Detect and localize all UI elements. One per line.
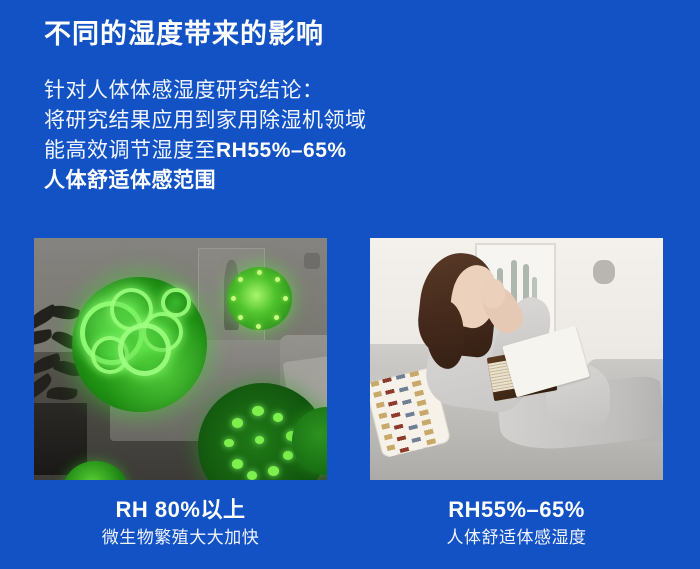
caption-left-subtitle: 微生物繁殖大大加快 xyxy=(34,525,327,551)
body-line-2: 将研究结果应用到家用除湿机领域 xyxy=(44,106,367,136)
bacteria-sphere-top xyxy=(227,267,291,330)
bacteria-sphere-large xyxy=(72,277,207,413)
dim-room-scene xyxy=(34,238,327,480)
humidity-infographic-poster: 不同的湿度带来的影响 针对人体体感湿度研究结论： 将研究结果应用到家用除湿机领域… xyxy=(0,0,700,569)
wall-knob xyxy=(304,253,320,269)
photo-comfort-humidity xyxy=(370,238,663,480)
body-line-1: 针对人体体感湿度研究结论： xyxy=(44,76,367,106)
caption-comfort-humidity: RH55%–65% 人体舒适体感湿度 xyxy=(370,495,663,551)
page-title: 不同的湿度带来的影响 xyxy=(44,16,324,52)
spikes xyxy=(227,267,291,330)
body-copy: 针对人体体感湿度研究结论： 将研究结果应用到家用除湿机领域 能高效调节湿度至RH… xyxy=(44,76,367,196)
caption-left-title: RH 80%以上 xyxy=(34,495,327,525)
bright-room-scene xyxy=(370,238,663,480)
wall-knob xyxy=(593,260,615,284)
caption-high-humidity: RH 80%以上 微生物繁殖大大加快 xyxy=(34,495,327,551)
body-line-3: 能高效调节湿度至RH55%–65% xyxy=(44,136,367,166)
body-line-3-prefix: 能高效调节湿度至 xyxy=(44,139,216,162)
caption-right-title: RH55%–65% xyxy=(370,495,663,525)
body-line-4: 人体舒适体感范围 xyxy=(44,166,367,196)
caption-right-subtitle: 人体舒适体感湿度 xyxy=(370,525,663,551)
woman-hand xyxy=(481,279,504,308)
humidity-range-highlight: RH55%–65% xyxy=(216,139,347,162)
photo-high-humidity xyxy=(34,238,327,480)
